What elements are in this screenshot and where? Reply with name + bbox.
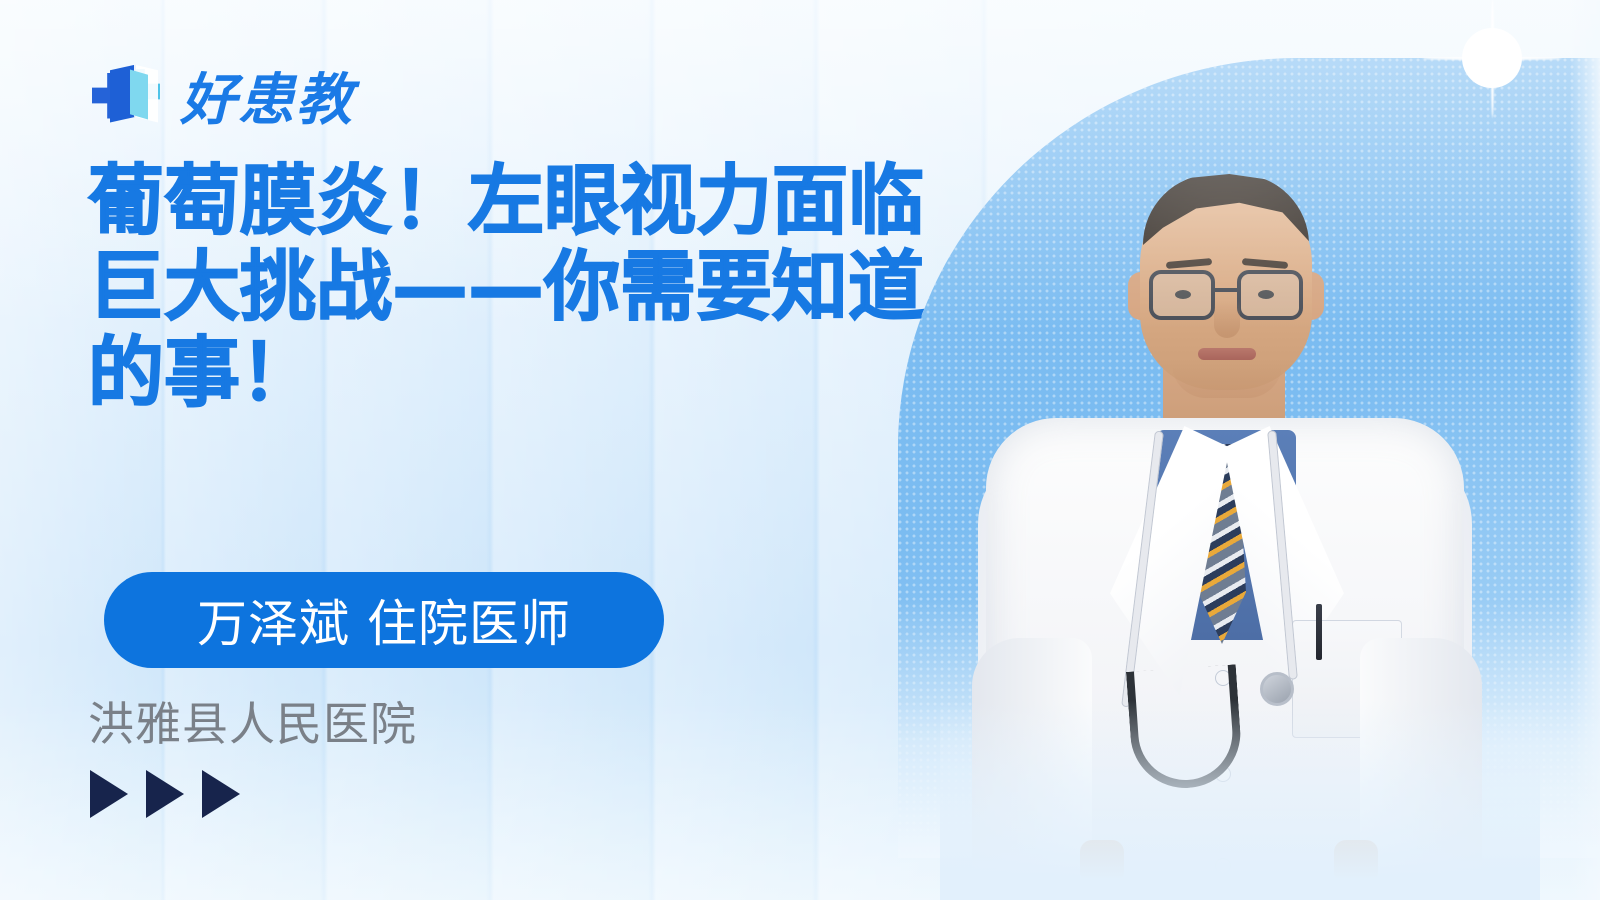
play-triangle-icon: [202, 770, 240, 818]
pen-icon: [1316, 604, 1322, 660]
poster-canvas: 好患教 葡萄膜炎！左眼视力面临 巨大挑战——你需要知道 的事！ 万泽斌 住院医师…: [0, 0, 1600, 900]
play-triangle-icon: [146, 770, 184, 818]
doctor-portrait: [960, 168, 1500, 868]
play-triangle-icon: [90, 770, 128, 818]
title-line-3: 的事！: [88, 330, 968, 416]
doctor-name-badge: 万泽斌 住院医师: [104, 572, 664, 668]
medical-cross-book-icon: [88, 57, 166, 135]
brand-logo[interactable]: 好患教: [88, 55, 354, 136]
page-title: 葡萄膜炎！左眼视力面临 巨大挑战——你需要知道 的事！: [88, 158, 968, 416]
play-arrows: [90, 770, 240, 818]
hospital-name: 洪雅县人民医院: [88, 688, 417, 754]
title-line-1: 葡萄膜炎！左眼视力面临: [88, 158, 968, 244]
title-line-2: 巨大挑战——你需要知道: [88, 244, 968, 330]
doctor-name-title: 万泽斌 住院医师: [197, 584, 571, 656]
brand-logo-text: 好患教: [180, 55, 354, 136]
